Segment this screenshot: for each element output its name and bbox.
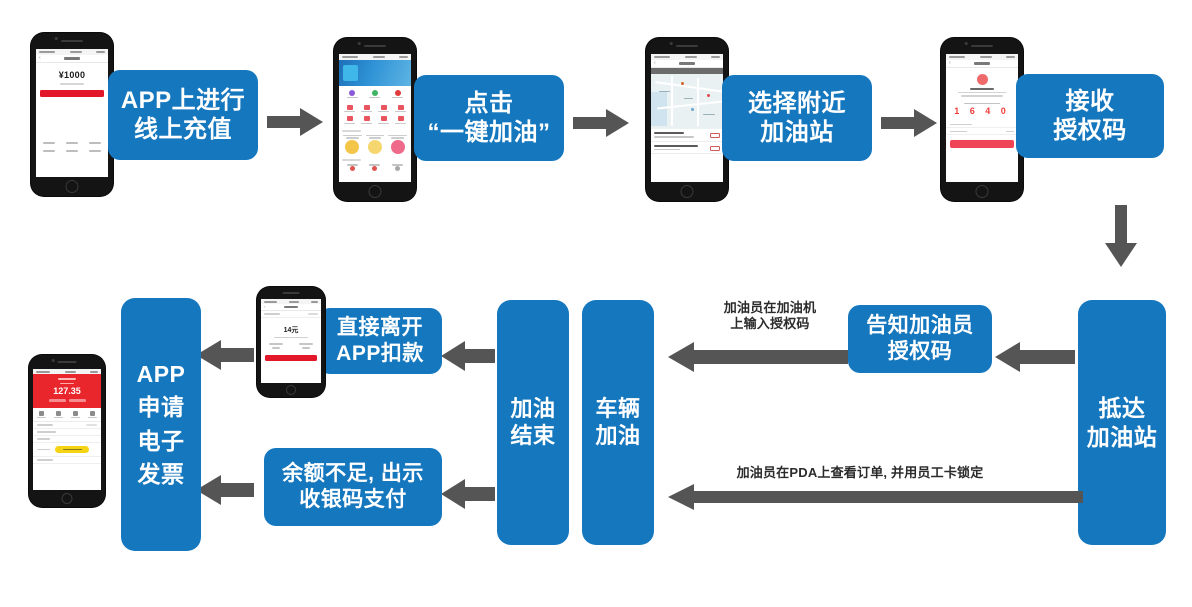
balance-header: 127.35 — [33, 374, 101, 408]
home-banner[interactable] — [339, 60, 411, 86]
menu-row[interactable] — [33, 457, 101, 464]
home-button[interactable] — [681, 185, 694, 198]
arrow-right-2 — [573, 108, 629, 138]
home-bottom-row[interactable] — [339, 161, 411, 173]
detail-row — [946, 121, 1018, 128]
step-leave-app-box[interactable]: 直接离开 APP扣款 — [318, 308, 442, 374]
step-invoice-box[interactable]: APP 申请 电子 发票 — [121, 298, 201, 551]
arrow-left-6 — [196, 338, 254, 372]
navigate-tag[interactable] — [710, 146, 720, 151]
station-map-screen: ‹ — [651, 54, 723, 182]
back-icon[interactable]: ‹ — [264, 305, 265, 309]
avatar — [977, 74, 988, 85]
arrow-left-2 — [668, 341, 848, 373]
deduct-amount: 14元 — [261, 325, 321, 335]
apply-invoice-button[interactable] — [55, 446, 89, 453]
order-row — [261, 311, 321, 318]
station-list-item[interactable] — [651, 129, 723, 142]
denomination-grid — [36, 139, 108, 155]
arrow-right-3 — [881, 108, 937, 138]
phone-speaker — [283, 292, 300, 294]
arrow-right-1 — [267, 107, 323, 137]
app-home-screen — [339, 54, 411, 182]
step-select-station-box[interactable]: 选择附近 加油站 — [722, 75, 872, 161]
step-tap-fuel-label: 点击 “一键加油” — [414, 89, 564, 148]
nav-title — [64, 57, 80, 60]
recharge-screen: ‹ ¥1000 — [36, 49, 108, 177]
nav-bar: ‹ — [36, 55, 108, 63]
invoice-balance-screen: 127.35 — [33, 369, 101, 490]
phone-auth-code: ‹ 1 6 4 0 — [941, 38, 1023, 201]
phone-camera — [670, 42, 673, 45]
arrow-left-5 — [441, 478, 495, 510]
step-receive-code-label: 接收 授权码 — [1016, 87, 1164, 146]
home-promo-cards[interactable] — [339, 132, 411, 158]
primary-action-button[interactable] — [950, 140, 1014, 148]
arrow-down-1 — [1104, 205, 1138, 267]
auth-code-value: 1 6 4 0 — [946, 106, 1018, 116]
back-icon[interactable]: ‹ — [39, 56, 41, 61]
step-fueling-finished-label: 加油 结束 — [497, 396, 569, 450]
step-invoice-label: APP 申请 电子 发票 — [121, 358, 201, 491]
recharge-hint — [60, 83, 84, 85]
description-line — [961, 95, 1003, 96]
step-select-station-label: 选择附近 加油站 — [722, 89, 872, 148]
phone-speaker — [676, 45, 698, 47]
back-icon[interactable]: ‹ — [654, 61, 656, 66]
phone-station-map: ‹ — [646, 38, 728, 201]
station-list-item[interactable] — [651, 142, 723, 155]
detail-row — [946, 128, 1018, 135]
phone-camera — [965, 42, 968, 45]
menu-row[interactable] — [33, 436, 101, 443]
home-button[interactable] — [369, 185, 382, 198]
arrow-left-3 — [668, 483, 1083, 511]
home-button[interactable] — [286, 385, 296, 395]
phone-recharge: ‹ ¥1000 — [31, 33, 113, 196]
auth-code-label — [964, 103, 1000, 105]
step-receive-code-box[interactable]: 接收 授权码 — [1016, 74, 1164, 158]
deduct-columns — [261, 347, 321, 349]
phone-speaker — [58, 361, 77, 363]
auth-code-screen: ‹ 1 6 4 0 — [946, 54, 1018, 182]
home-icon-grid[interactable] — [339, 102, 411, 128]
phone-app-home — [334, 38, 416, 201]
phone-speaker — [364, 45, 386, 47]
phone-speaker — [971, 45, 993, 47]
step-recharge-box[interactable]: APP上进行 线上充值 — [108, 70, 258, 160]
step-vehicle-fueling-label: 车辆 加油 — [582, 396, 654, 450]
arrow-left-1 — [995, 340, 1075, 374]
nav-bar: ‹ — [946, 60, 1018, 68]
deduction-screen: ‹ 14元 — [261, 299, 321, 383]
recharge-amount: ¥1000 — [36, 70, 108, 80]
phone-camera — [52, 359, 55, 362]
balance-title — [58, 378, 77, 380]
menu-row[interactable] — [33, 422, 101, 429]
confirm-recharge-button[interactable] — [40, 90, 104, 97]
step-insufficient-label: 余额不足, 出示 收银码支付 — [264, 461, 442, 512]
step-recharge-label: APP上进行 线上充值 — [108, 86, 258, 145]
arrow-left-4 — [441, 340, 495, 372]
phone-speaker — [61, 40, 83, 42]
step-tell-attendant-box[interactable]: 告知加油员 授权码 — [848, 305, 992, 373]
phone-invoice-balance: 127.35 — [29, 355, 105, 507]
nav-title — [679, 62, 695, 65]
flowchart-canvas: ‹ ¥1000 APP上进行 线上充值 — [0, 0, 1192, 607]
step-arrive-station-box[interactable]: 抵达 加油站 — [1078, 300, 1166, 545]
description-line — [958, 92, 1006, 93]
step-vehicle-fueling-box[interactable]: 车辆 加油 — [582, 300, 654, 545]
back-icon[interactable]: ‹ — [949, 61, 951, 66]
step-insufficient-balance-box[interactable]: 余额不足, 出示 收银码支付 — [264, 448, 442, 526]
phone-camera — [358, 42, 361, 45]
nav-title — [284, 306, 297, 309]
step-fueling-finished-box[interactable]: 加油 结束 — [497, 300, 569, 545]
deduct-columns — [261, 343, 321, 345]
annotation-pda-lock: 加油员在PDA上查看订单, 并用员工卡锁定 — [660, 465, 1060, 481]
deduct-detail — [274, 337, 309, 338]
nav-bar: ‹ — [651, 60, 723, 68]
step-arrive-station-label: 抵达 加油站 — [1078, 394, 1166, 450]
phone-camera — [55, 37, 58, 40]
arrow-left-7 — [196, 473, 254, 507]
station-name — [970, 88, 994, 90]
balance-subtitle — [60, 383, 74, 384]
nav-title — [974, 62, 990, 65]
annotation-enter-code: 加油员在加油机 上输入授权码 — [690, 300, 850, 333]
navigate-tag[interactable] — [710, 133, 720, 138]
step-tell-attendant-label: 告知加油员 授权码 — [848, 313, 992, 364]
home-button[interactable] — [66, 180, 79, 193]
step-tap-fuel-box[interactable]: 点击 “一键加油” — [414, 75, 564, 161]
nav-bar: ‹ — [261, 304, 321, 311]
balance-actions[interactable] — [36, 399, 98, 402]
menu-row-invoice[interactable] — [33, 443, 101, 457]
pay-button[interactable] — [265, 355, 317, 361]
home-button[interactable] — [62, 493, 73, 504]
phone-deduction: ‹ 14元 — [257, 287, 325, 397]
map-area[interactable] — [651, 74, 723, 129]
home-button[interactable] — [976, 185, 989, 198]
quick-tabs[interactable] — [33, 408, 101, 423]
home-quick-actions[interactable] — [339, 86, 411, 102]
step-leave-app-label: 直接离开 APP扣款 — [318, 315, 442, 366]
balance-amount: 127.35 — [36, 386, 98, 396]
menu-row[interactable] — [33, 429, 101, 436]
